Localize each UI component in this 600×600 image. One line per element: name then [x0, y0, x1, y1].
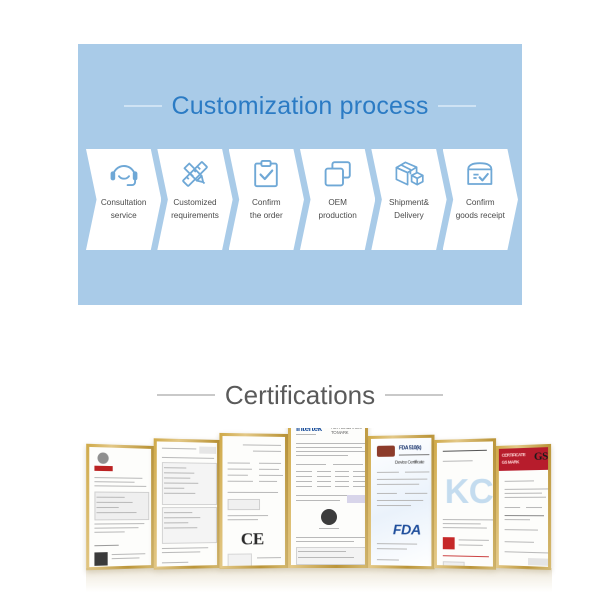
certifications-gallery: CE Intertek AUTHORIZATION TO MARK [0, 428, 600, 600]
process-step-label: Confirm the order [232, 197, 300, 222]
process-step-label: Customized requirements [161, 197, 229, 222]
kc-mark: KC [445, 472, 493, 512]
process-step-label: Shipment& Delivery [375, 197, 443, 222]
cert-rule-left [157, 394, 215, 396]
fda-mark: FDA [393, 521, 421, 537]
certificate-gs[interactable]: CERTIFICATE GS MARK GS [496, 444, 551, 570]
title-rule-right [438, 105, 476, 107]
ce-mark: CE [241, 529, 264, 549]
process-title: Customization process [162, 92, 437, 121]
cert-rule-right [385, 394, 443, 396]
process-step-shipment-delivery[interactable]: Shipment& Delivery [371, 149, 446, 250]
headset-icon [107, 158, 141, 190]
process-step-confirm-order[interactable]: Confirm the order [229, 149, 304, 250]
certificate-fda[interactable]: FDA 510(k) Device Certificate FDA [368, 435, 435, 570]
gs-mark: GS [534, 450, 548, 463]
process-step-confirm-goods-receipt[interactable]: Confirm goods receipt [443, 149, 518, 250]
process-title-row: Customization process [78, 86, 522, 126]
certificate-test-data[interactable] [154, 438, 220, 569]
process-step-consultation[interactable]: Consultation service [86, 149, 161, 250]
certificate-reflection [86, 568, 552, 592]
certificate-intertek[interactable]: Intertek AUTHORIZATION TO MARK [288, 428, 368, 568]
process-step-label: Confirm goods receipt [446, 197, 514, 222]
process-steps-strip: Consultation service Customized requi [86, 149, 514, 250]
clipboard-check-icon [249, 158, 283, 190]
customization-process-section: Customization process Consultation servi… [78, 44, 522, 305]
open-box-check-icon [463, 158, 497, 190]
certifications-title: Certifications [215, 380, 385, 411]
ruler-pencil-icon [178, 158, 212, 190]
certifications-title-row: Certifications [0, 377, 600, 413]
process-step-customized-requirements[interactable]: Customized requirements [157, 149, 232, 250]
certificate-ce[interactable]: CE [219, 433, 288, 569]
intertek-logo: Intertek [296, 428, 322, 433]
shipping-boxes-icon [392, 158, 426, 190]
certificate-test-report[interactable] [86, 444, 154, 571]
process-step-oem-production[interactable]: OEM production [300, 149, 375, 250]
title-rule-left [124, 105, 162, 107]
process-step-label: OEM production [304, 197, 372, 222]
process-step-label: Consultation service [90, 197, 158, 222]
overlapping-squares-icon [321, 158, 355, 190]
certificate-kc[interactable]: KC [434, 438, 496, 570]
